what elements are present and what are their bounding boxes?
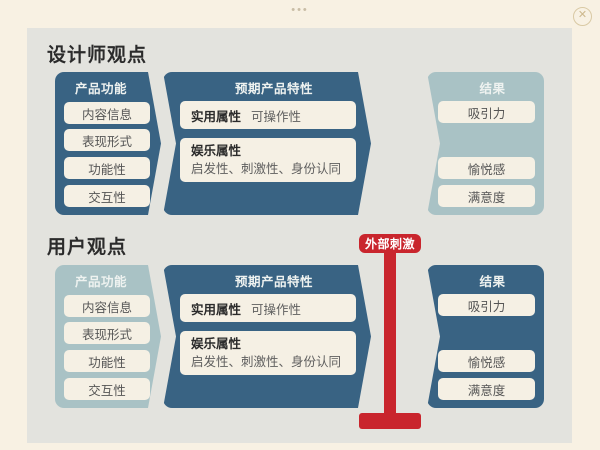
item-lead: 娱乐属性 [191, 142, 241, 160]
list-item[interactable]: 愉悦感 [438, 350, 535, 372]
list-item[interactable]: 表现形式 [64, 129, 150, 151]
list-item[interactable]: 满意度 [438, 185, 535, 207]
window-chrome: ••• ✕ 设计师观点 产品功能 内容信息 表现形式 功能性 交互性 预期产品特… [0, 0, 600, 450]
panel-header-product-function: 产品功能 [55, 78, 147, 97]
external-stimulus-base [359, 413, 421, 429]
list-item[interactable]: 满意度 [438, 378, 535, 400]
list-item[interactable]: 功能性 [64, 350, 150, 372]
item-sub: 启发性、刺激性、身份认同 [191, 160, 341, 178]
item-sub: 可操作性 [251, 299, 301, 318]
list-item[interactable]: 娱乐属性 启发性、刺激性、身份认同 [180, 331, 356, 375]
item-lead: 实用属性 [191, 106, 241, 125]
section-title-user: 用户观点 [47, 232, 127, 259]
section-title-designer: 设计师观点 [47, 40, 147, 67]
item-lead: 娱乐属性 [191, 335, 241, 353]
panel-header-expected-attributes: 预期产品特性 [177, 271, 371, 290]
item-sub: 可操作性 [251, 106, 301, 125]
list-item[interactable]: 吸引力 [438, 294, 535, 316]
list-item[interactable]: 实用属性 可操作性 [180, 101, 356, 129]
close-icon[interactable]: ✕ [573, 7, 592, 26]
panel-header-product-function: 产品功能 [55, 271, 147, 290]
list-item[interactable]: 娱乐属性 启发性、刺激性、身份认同 [180, 138, 356, 182]
list-item[interactable]: 功能性 [64, 157, 150, 179]
list-item[interactable]: 内容信息 [64, 102, 150, 124]
external-stimulus-stem [384, 244, 396, 429]
list-item[interactable]: 实用属性 可操作性 [180, 294, 356, 322]
list-item[interactable]: 内容信息 [64, 295, 150, 317]
more-options-icon[interactable]: ••• [0, 6, 600, 14]
item-lead: 实用属性 [191, 299, 241, 318]
external-stimulus-label[interactable]: 外部刺激 [359, 234, 421, 253]
list-item[interactable]: 吸引力 [438, 101, 535, 123]
slide-canvas: 设计师观点 产品功能 内容信息 表现形式 功能性 交互性 预期产品特性 实用属性… [27, 28, 572, 443]
list-item[interactable]: 交互性 [64, 185, 150, 207]
list-item[interactable]: 表现形式 [64, 322, 150, 344]
panel-header-expected-attributes: 预期产品特性 [177, 78, 371, 97]
list-item[interactable]: 愉悦感 [438, 157, 535, 179]
panel-header-results: 结果 [441, 271, 544, 290]
item-sub: 启发性、刺激性、身份认同 [191, 353, 341, 371]
list-item[interactable]: 交互性 [64, 378, 150, 400]
panel-header-results: 结果 [441, 78, 544, 97]
